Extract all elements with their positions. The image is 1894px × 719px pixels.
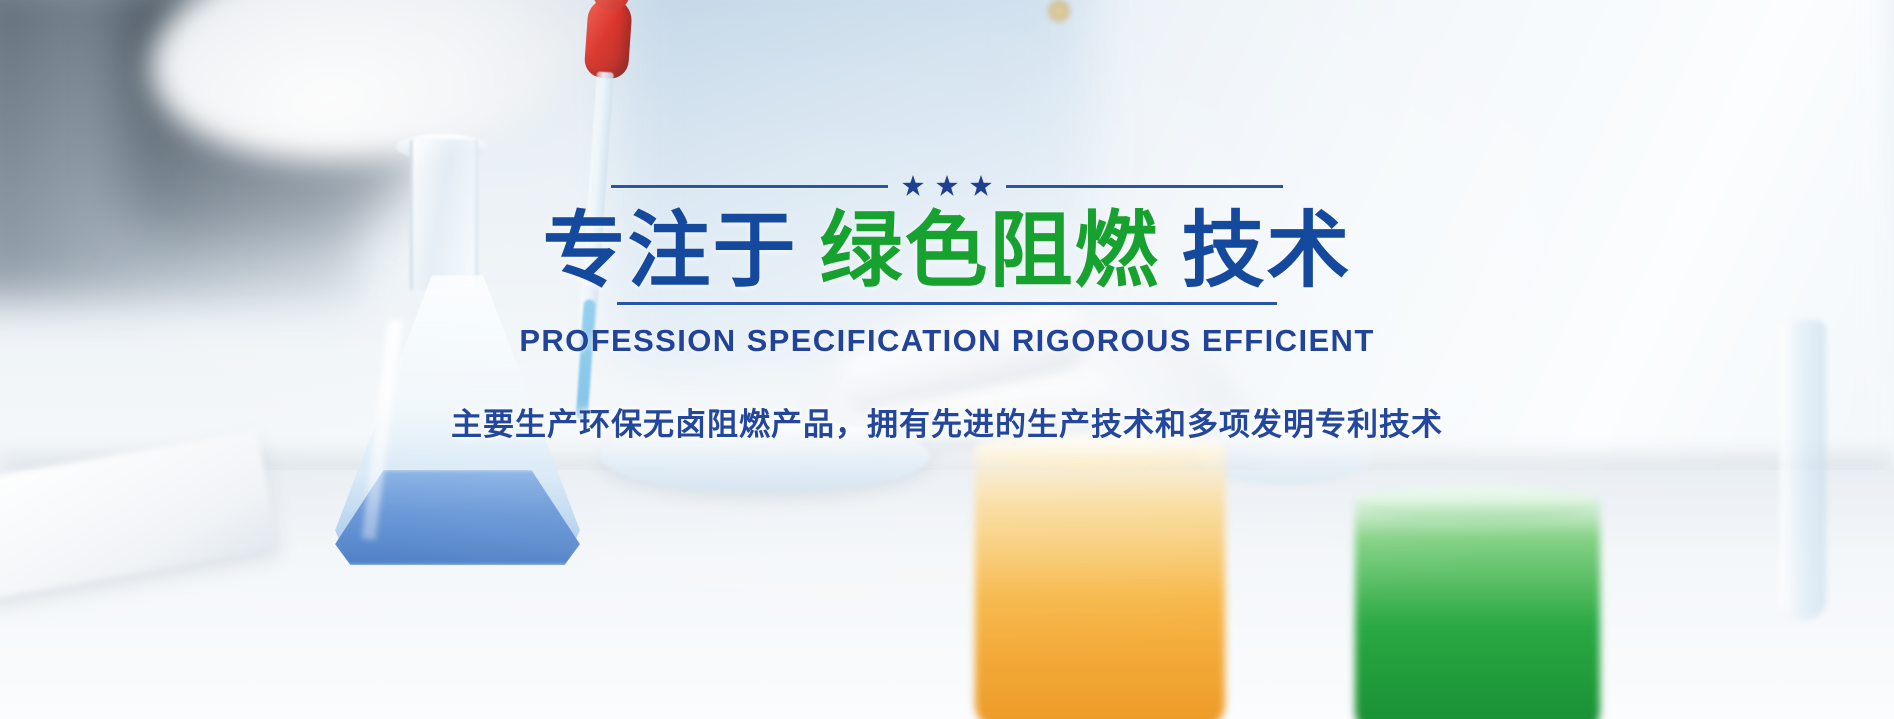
title-underline — [617, 302, 1277, 305]
hero-banner: 专注于绿色阻燃技术 PROFESSION SPECIFICATION RIGOR… — [0, 0, 1894, 719]
page-title: 专注于绿色阻燃技术 — [543, 206, 1352, 296]
headline-part-highlight: 绿色阻燃 — [820, 204, 1160, 297]
star-icon — [902, 175, 924, 197]
banner-content: 专注于绿色阻燃技术 PROFESSION SPECIFICATION RIGOR… — [0, 0, 1894, 719]
star-divider — [611, 176, 1283, 196]
subtitle-english: PROFESSION SPECIFICATION RIGOROUS EFFICI… — [519, 323, 1374, 359]
subtitle-chinese: 主要生产环保无卤阻燃产品，拥有先进的生产技术和多项发明专利技术 — [451, 399, 1443, 444]
divider-line-left — [611, 185, 888, 188]
star-icon — [936, 175, 958, 197]
divider-line-right — [1006, 185, 1283, 188]
headline-part-one: 专注于 — [543, 204, 798, 297]
headline-part-two: 技术 — [1182, 204, 1352, 297]
star-icon — [970, 175, 992, 197]
star-group — [888, 175, 1006, 197]
